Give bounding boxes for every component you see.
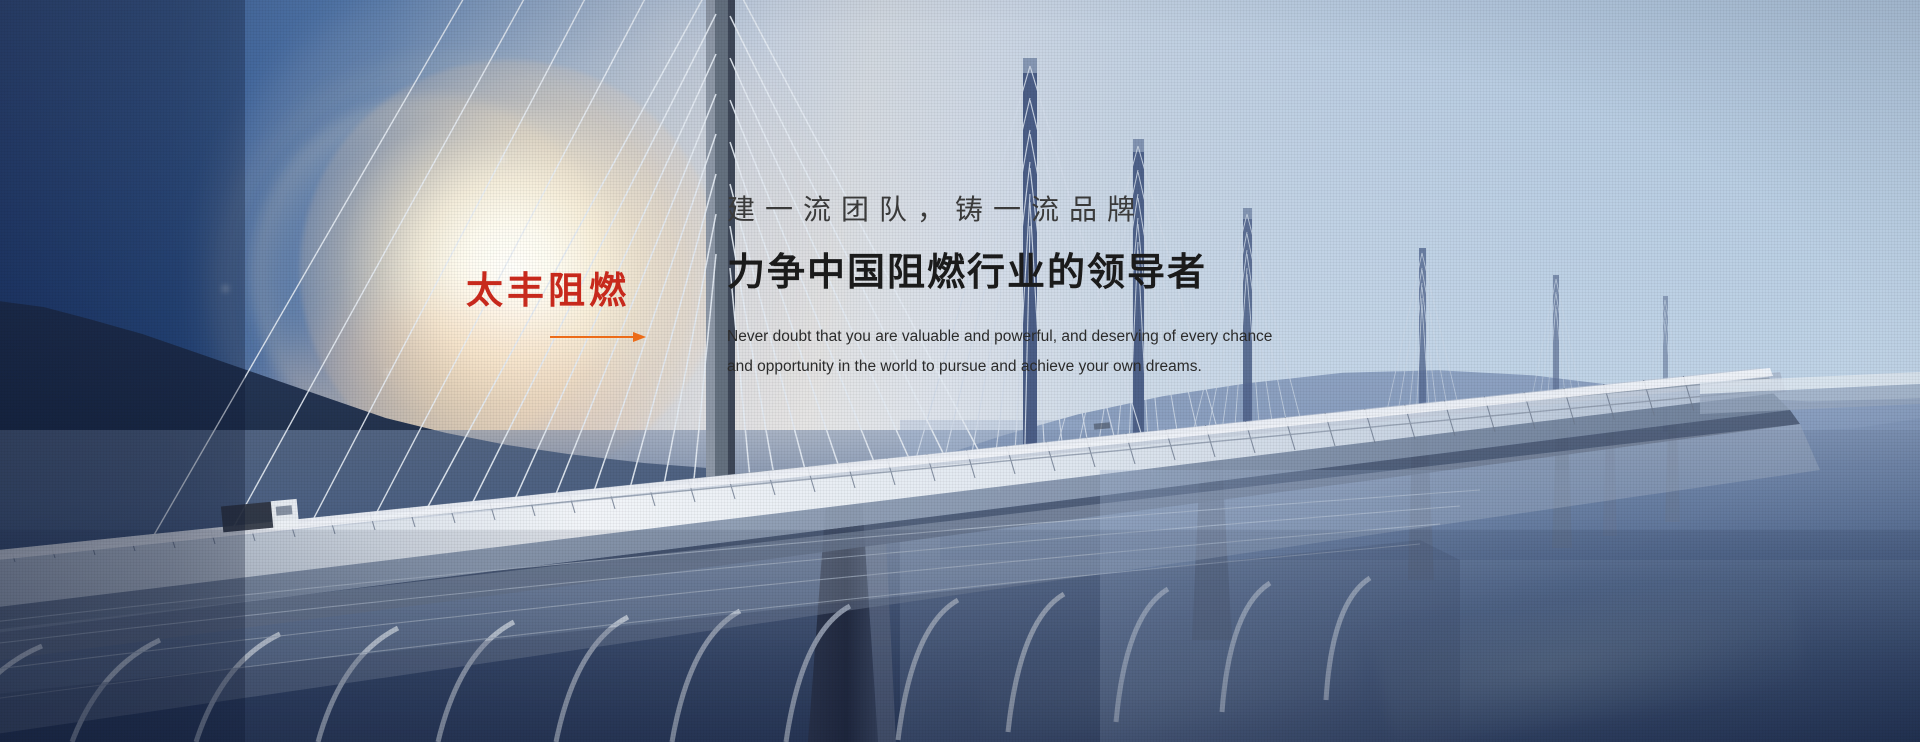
- hero-banner: 太丰阻燃 建一流团队，铸一流品牌 力争中国阻燃行业的领导者 Never doub…: [0, 0, 1920, 742]
- arrow-head: [633, 332, 646, 342]
- brand-logo-text: 太丰阻燃: [466, 272, 666, 309]
- hero-headline: 力争中国阻燃行业的领导者: [727, 250, 1427, 296]
- hero-text-block: 建一流团队，铸一流品牌 力争中国阻燃行业的领导者 Never doubt tha…: [727, 192, 1427, 382]
- brand-logo[interactable]: 太丰阻燃: [466, 272, 666, 342]
- hero-subheadline: 建一流团队，铸一流品牌: [727, 192, 1427, 228]
- arrow-right-icon: [550, 332, 646, 342]
- arrow-shaft: [550, 336, 634, 338]
- hero-paragraph: Never doubt that you are valuable and po…: [727, 322, 1287, 382]
- banner-content: 太丰阻燃 建一流团队，铸一流品牌 力争中国阻燃行业的领导者 Never doub…: [0, 0, 1920, 742]
